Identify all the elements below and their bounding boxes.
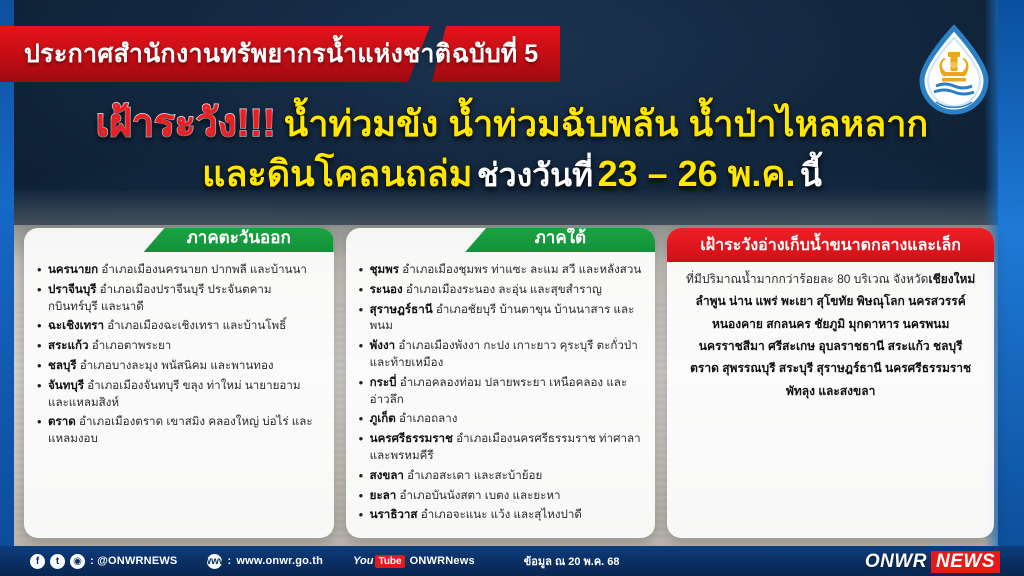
reservoir-province-list: เชียงใหม่ ลำพูน น่าน แพร่ พะเยา สุโขทัย … [690,272,975,398]
infographic-canvas: ประกาศสำนักงานทรัพยากรน้ำแห่งชาติ ฉบับที… [0,0,1024,576]
card-eastern-tab: ภาคตะวันออก [144,228,334,252]
title-period-label: ช่วงวันที่ [477,157,593,193]
reservoir-lead-text: ที่มีปริมาณน้ำมากกว่าร้อยละ 80 บริเวณ จั… [686,272,928,286]
province-name: ตราด [48,415,76,428]
province-detail: อำเภอถลาง [399,412,457,425]
province-name: ชลบุรี [48,359,77,372]
province-name: สงขลา [370,469,404,482]
province-detail: อำเภอสะเดา และสะบ้าย้อย [407,469,542,482]
website-separator: : [227,555,231,567]
province-name: จันทบุรี [48,379,84,392]
province-detail: อำเภอบันนังสตา เบตง และยะหา [400,489,561,502]
title-line-2: และดินโคลนถล่ม ช่วงวันที่ 23 – 26 พ.ค. น… [0,152,1024,196]
province-name: ปราจีนบุรี [48,283,96,296]
list-item: ภูเก็ต อำเภอถลาง [359,411,643,428]
province-name: ชุมพร [370,263,399,276]
province-name: ภูเก็ต [370,412,396,425]
province-name: ระนอง [370,283,403,296]
list-item: นราธิวาส อำเภอจะแนะ แว้ง และสุไหงปาดี [359,507,643,524]
brand-onwr-text: ONWR [865,551,927,573]
province-name: นครศรีธรรมราช [370,432,453,445]
list-item: จันทบุรี อำเภอเมืองจันทบุรี ขลุง ท่าใหม่… [37,378,321,412]
province-detail: อำเภอเมืองตราด เขาสมิง คลองใหญ่ บ่อไร่ แ… [48,415,313,445]
onwr-news-logo: ONWR NEWS [865,551,1000,573]
province-name: ฉะเชิงเทรา [48,319,104,332]
province-name: พังงา [370,339,395,352]
title-alert-text: เฝ้าระวัง!!! [96,102,276,145]
list-item: ตราด อำเภอเมืองตราด เขาสมิง คลองใหญ่ บ่อ… [37,414,321,448]
reservoir-description: ที่มีปริมาณน้ำมากกว่าร้อยละ 80 บริเวณ จั… [680,262,981,402]
left-blue-rail [0,0,14,576]
facebook-icon[interactable]: f [30,554,45,569]
card-southern-tab: ภาคใต้ [465,228,655,252]
instagram-icon[interactable]: ◉ [70,554,85,569]
youtube-icon[interactable]: You Tube [353,555,405,568]
list-item: นครศรีธรรมราช อำเภอเมืองนครศรีธรรมราช ท่… [359,431,643,465]
list-item: สุราษฎร์ธานี อำเภอชัยบุรี บ้านตาขุน บ้าน… [359,302,643,336]
header-issue-number: ฉบับที่ 5 [452,26,538,82]
province-name: กระบี่ [370,376,397,389]
list-item: สงขลา อำเภอสะเดา และสะบ้าย้อย [359,468,643,485]
province-name: ยะลา [370,489,397,502]
main-title: เฝ้าระวัง!!!น้ำท่วมขัง น้ำท่วมฉับพลัน น้… [0,100,1024,195]
footer-bar: f t ◉ : @ONWRNEWS www : www.onwr.go.th Y… [0,546,1024,576]
title-hazards-text: น้ำท่วมขัง น้ำท่วมฉับพลัน น้ำป่าไหลหลาก [284,103,929,144]
card-reservoir-tab: เฝ้าระวังอ่างเก็บน้ำขนาดกลางและเล็ก [667,228,994,262]
youtube-channel-name: ONWRNews [410,555,475,567]
province-detail: อำเภอบางละมุง พนัสนิคม และพานทอง [80,359,274,372]
youtube-you-text: You [353,555,373,567]
header-title: ประกาศสำนักงานทรัพยากรน้ำแห่งชาติ [24,26,451,82]
province-detail: อำเภอเมืองระนอง ละอุ่น และสุขสำราญ [406,283,602,296]
list-item: ชุมพร อำเภอเมืองชุมพร ท่าแซะ ละแม สวี แล… [359,262,643,279]
province-name: สุราษฎร์ธานี [370,303,433,316]
list-item: กระบี่ อำเภอคลองท่อม ปลายพระยา เหนือคลอง… [359,375,643,409]
twitter-icon[interactable]: t [50,554,65,569]
list-item: สระแก้ว อำเภอตาพระยา [37,338,321,355]
province-detail: อำเภอเมืองฉะเชิงเทรา และบ้านโพธิ์ [107,319,286,332]
eastern-province-list: นครนายก อำเภอเมืองนครนายก ปากพลี และบ้าน… [37,262,321,448]
list-item: ชลบุรี อำเภอบางละมุง พนัสนิคม และพานทอง [37,358,321,375]
footer-social-group: f t ◉ : @ONWRNEWS www : www.onwr.go.th Y… [0,552,620,570]
card-eastern-region: ภาคตะวันออก นครนายก อำเภอเมืองนครนายก ปา… [24,228,334,538]
youtube-tube-text: Tube [375,555,404,568]
province-detail: อำเภอเมืองจันทบุรี ขลุง ท่าใหม่ นายายอาม… [48,379,301,409]
province-detail: อำเภอเมืองพังงา กะปง เกาะยาว คุระบุรี ตะ… [370,339,638,369]
province-name: สระแก้ว [48,339,89,352]
list-item: พังงา อำเภอเมืองพังงา กะปง เกาะยาว คุระบ… [359,338,643,372]
province-name: นครนายก [48,263,98,276]
list-item: ยะลา อำเภอบันนังสตา เบตง และยะหา [359,488,643,505]
title-date-suffix: นี้ [800,157,822,193]
globe-icon[interactable]: www [207,554,222,569]
list-item: นครนายก อำเภอเมืองนครนายก ปากพลี และบ้าน… [37,262,321,279]
website-url[interactable]: www.onwr.go.th [236,555,323,567]
card-southern-region: ภาคใต้ ชุมพร อำเภอเมืองชุมพร ท่าแซะ ละแม… [346,228,656,538]
province-detail: อำเภอจะแนะ แว้ง และสุไหงปาดี [421,508,582,521]
region-cards: ภาคตะวันออก นครนายก อำเภอเมืองนครนายก ปา… [24,228,994,538]
southern-province-list: ชุมพร อำเภอเมืองชุมพร ท่าแซะ ละแม สวี แล… [359,262,643,524]
list-item: ระนอง อำเภอเมืองระนอง ละอุ่น และสุขสำราญ [359,282,643,299]
list-item: ฉะเชิงเทรา อำเภอเมืองฉะเชิงเทรา และบ้านโ… [37,318,321,335]
list-item: ปราจีนบุรี อำเภอเมืองปราจีนบุรี ประจันตค… [37,282,321,316]
header-banner: ประกาศสำนักงานทรัพยากรน้ำแห่งชาติ ฉบับที… [0,26,560,82]
social-handle: : @ONWRNEWS [90,555,177,567]
province-detail: อำเภอคลองท่อม ปลายพระยา เหนือคลอง และอ่า… [370,376,627,406]
province-name: นราธิวาส [370,508,418,521]
province-detail: อำเภอตาพระยา [92,339,171,352]
card-reservoir-watch: เฝ้าระวังอ่างเก็บน้ำขนาดกลางและเล็ก ที่ม… [667,228,994,538]
data-date-note: ข้อมูล ณ 20 พ.ค. 68 [524,552,620,570]
province-detail: อำเภอเมืองชุมพร ท่าแซะ ละแม สวี และหลังส… [402,263,641,276]
title-landslide-text: และดินโคลนถล่ม [202,153,472,194]
province-detail: อำเภอเมืองนครนายก ปากพลี และบ้านนา [101,263,307,276]
title-line-1: เฝ้าระวัง!!!น้ำท่วมขัง น้ำท่วมฉับพลัน น้… [0,100,1024,148]
brand-news-text: NEWS [931,551,1000,573]
title-date-range: 23 – 26 พ.ค. [598,153,796,194]
